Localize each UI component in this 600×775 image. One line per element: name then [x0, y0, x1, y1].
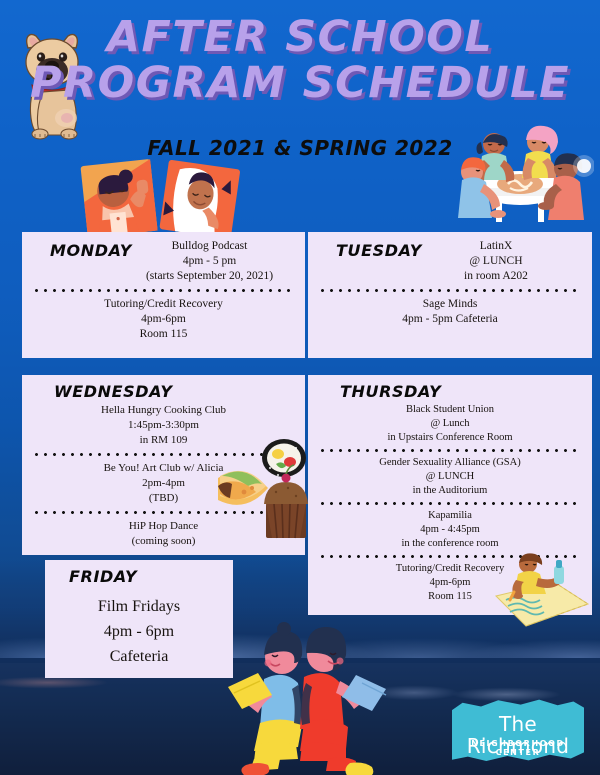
program-line: 4pm-6pm: [32, 312, 295, 327]
poster: AFTER SCHOOL PROGRAM SCHEDULE FALL 2021 …: [0, 0, 600, 775]
dotted-divider: [318, 287, 582, 294]
program-line: Tutoring/Credit Recovery: [32, 297, 295, 312]
program-line: 1:45pm-3:30pm: [32, 418, 295, 433]
program-block: Film Fridays 4pm - 6pm Cafeteria: [55, 588, 223, 669]
program-line: 4pm - 5 pm: [124, 254, 295, 269]
day-card-monday: MONDAY Bulldog Podcast 4pm - 5 pm (start…: [22, 232, 305, 358]
organization-logo: The Richmond NEIGHBORHOOD CENTER: [452, 699, 584, 761]
program-line: in the Auditorium: [318, 484, 582, 498]
program-line: @ Lunch: [318, 417, 582, 431]
day-card-tuesday: TUESDAY LatinX @ LUNCH in room A202 Sage…: [308, 232, 592, 358]
title-line-2: PROGRAM SCHEDULE: [0, 60, 600, 106]
student-portraits-illustration: [78, 158, 248, 238]
dotted-divider: [318, 500, 582, 507]
dotted-divider: [32, 287, 295, 294]
day-label-friday: FRIDAY: [55, 567, 137, 586]
program-line: LatinX: [410, 239, 582, 254]
program-block: Black Student Union @ Lunch in Upstairs …: [318, 403, 582, 445]
program-line: @ LUNCH: [318, 470, 582, 484]
program-line: 4pm - 5pm Cafeteria: [318, 312, 582, 327]
program-block: Kapamilia 4pm - 4:45pm in the conference…: [318, 509, 582, 551]
subtitle-text: FALL 2021 & SPRING 2022: [147, 136, 452, 160]
program-block: Sage Minds 4pm - 5pm Cafeteria: [318, 297, 582, 327]
program-line: Room 115: [32, 327, 295, 342]
program-block: Gender Sexuality Alliance (GSA) @ LUNCH …: [318, 456, 582, 498]
program-block: LatinX @ LUNCH in room A202: [410, 239, 582, 284]
program-line: in the conference room: [318, 537, 582, 551]
day-label-monday: MONDAY: [32, 239, 124, 260]
program-line: Cafeteria: [55, 644, 223, 669]
program-line: 4pm - 6pm: [55, 619, 223, 644]
day-label-thursday: THURSDAY: [318, 382, 441, 401]
day-label-wednesday: WEDNESDAY: [32, 382, 173, 401]
program-block: Tutoring/Credit Recovery 4pm-6pm Room 11…: [32, 297, 295, 342]
program-line: Sage Minds: [318, 297, 582, 312]
program-line: (starts September 20, 2021): [124, 269, 295, 284]
program-line: Black Student Union: [318, 403, 582, 417]
cupcake-icon: [264, 465, 308, 538]
background-town-lights: [370, 669, 590, 703]
poster-title: AFTER SCHOOL PROGRAM SCHEDULE: [0, 14, 600, 106]
program-line: in room A202: [410, 269, 582, 284]
program-block: Bulldog Podcast 4pm - 5 pm (starts Septe…: [124, 239, 295, 284]
readers-illustration: [200, 615, 400, 775]
student-writing-illustration: [492, 552, 592, 630]
program-line: @ LUNCH: [410, 254, 582, 269]
program-line: Kapamilia: [318, 509, 582, 523]
food-icons-illustration: [218, 432, 314, 544]
program-line: in Upstairs Conference Room: [318, 431, 582, 445]
title-line-1: AFTER SCHOOL: [0, 14, 600, 60]
day-label-tuesday: TUESDAY: [318, 239, 410, 260]
program-line: 4pm - 4:45pm: [318, 523, 582, 537]
taco-icon: [218, 471, 268, 505]
poster-subtitle: FALL 2021 & SPRING 2022: [0, 136, 600, 160]
program-line: Bulldog Podcast: [124, 239, 295, 254]
sushi-icon: [262, 439, 306, 477]
dotted-divider: [318, 447, 582, 454]
program-line: Hella Hungry Cooking Club: [32, 403, 295, 418]
logo-tagline: NEIGHBORHOOD CENTER: [452, 739, 584, 757]
program-line: Film Fridays: [55, 594, 223, 619]
program-line: Gender Sexuality Alliance (GSA): [318, 456, 582, 470]
